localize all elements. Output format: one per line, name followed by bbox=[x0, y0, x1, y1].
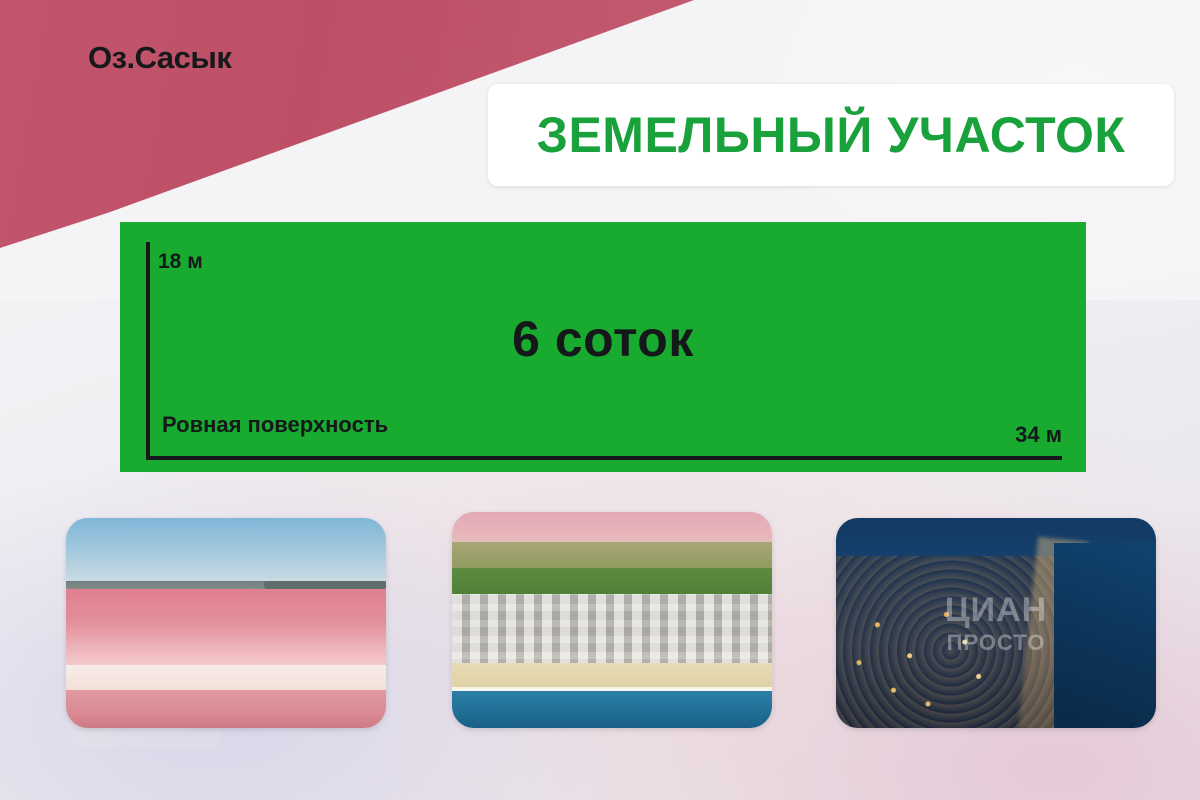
plot-width-label: 34 м bbox=[1015, 422, 1062, 448]
photo1-pink-water bbox=[66, 589, 386, 673]
photo1-spit bbox=[264, 581, 386, 589]
plot-diagram: 18 м 6 соток Ровная поверхность 34 м bbox=[120, 222, 1086, 472]
plot-width-axis-line bbox=[146, 456, 1062, 460]
photo-aerial-resort-town[interactable] bbox=[452, 512, 772, 728]
plot-area-label: 6 соток bbox=[120, 310, 1086, 368]
title-card: ЗЕМЕЛЬНЫЙ УЧАСТОК bbox=[488, 84, 1174, 186]
plot-surface-label: Ровная поверхность bbox=[162, 412, 388, 438]
lake-name-label: Оз.Сасык bbox=[88, 40, 231, 76]
photo1-sand bbox=[66, 690, 386, 728]
photo1-sky bbox=[66, 518, 386, 585]
photo2-sea bbox=[452, 691, 772, 728]
photo-night-coastal-city[interactable]: ЦИАН ПРОСТО bbox=[836, 518, 1156, 728]
plot-height-label: 18 м bbox=[158, 250, 203, 274]
poster-canvas: М ЦИАН ПРОСТО Оз.Сасык ЗЕМЕЛЬНЫЙ УЧАСТОК… bbox=[0, 0, 1200, 800]
photo2-building-texture bbox=[452, 594, 772, 667]
photo3-sea bbox=[1054, 543, 1156, 728]
page-title: ЗЕМЕЛЬНЫЙ УЧАСТОК bbox=[537, 106, 1126, 164]
photo-pink-lake-beach[interactable] bbox=[66, 518, 386, 728]
